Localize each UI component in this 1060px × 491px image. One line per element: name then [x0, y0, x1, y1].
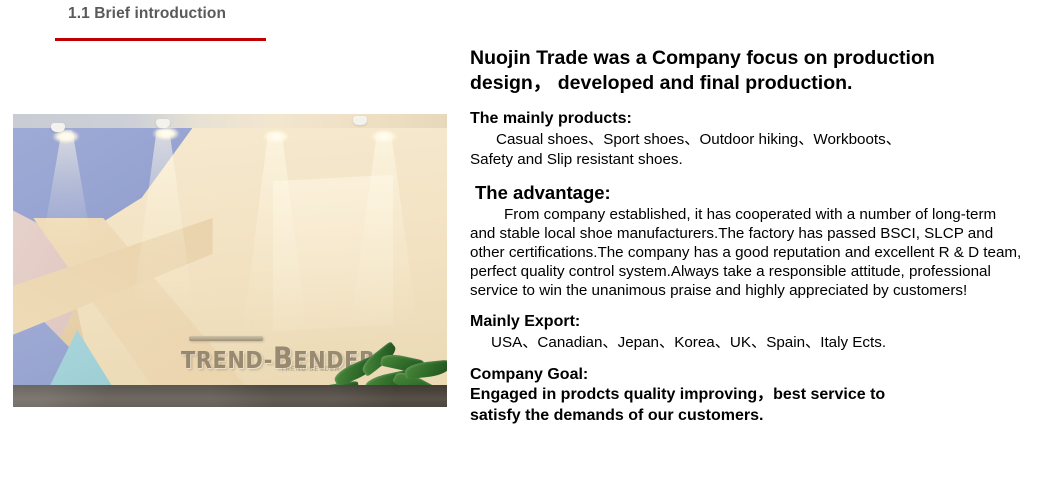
spotlight-4 [371, 130, 397, 143]
wall-sign-trend: TREND- [181, 347, 273, 374]
products-line-2: Safety and Slip resistant shoes. [470, 150, 1022, 169]
export-body: USA、Canadian、Jepan、Korea、UK、Spain、Italy … [470, 333, 1022, 352]
spotlight-1 [53, 130, 79, 143]
advantage-body: From company established, it has coopera… [470, 205, 1022, 300]
advantage-heading: The advantage: [475, 182, 1022, 205]
ceiling-light-fixture-4 [353, 116, 367, 125]
export-heading: Mainly Export: [470, 312, 1022, 332]
page-title: 1.1 Brief introduction [68, 5, 226, 23]
products-line-1: Casual shoes、Sport shoes、Outdoor hiking、… [470, 130, 1022, 149]
spotlight-3 [263, 130, 289, 143]
photo-scene: TREND-BENDER TREND BENDER [13, 114, 447, 407]
goal-body-line-2: satisfy the demands of our customers. [470, 406, 1022, 426]
introduction-text-column: Nuojin Trade was a Company focus on prod… [470, 46, 1022, 426]
marble-floor [13, 385, 447, 407]
spacer [470, 352, 1022, 365]
goal-heading: Company Goal: [470, 365, 1022, 385]
ceiling-strip [13, 114, 447, 128]
spotlight-2 [153, 127, 179, 140]
products-heading: The mainly products: [470, 109, 1022, 129]
spacer [470, 300, 1022, 312]
wall-sign-bar [189, 336, 263, 341]
goal-body-line-1: Engaged in prodcts quality improving，bes… [470, 385, 1022, 405]
office-lobby-photo: TREND-BENDER TREND BENDER [13, 114, 447, 407]
spacer [470, 169, 1022, 182]
company-title: Nuojin Trade was a Company focus on prod… [470, 46, 1022, 95]
heading-underline-rule [55, 38, 266, 41]
